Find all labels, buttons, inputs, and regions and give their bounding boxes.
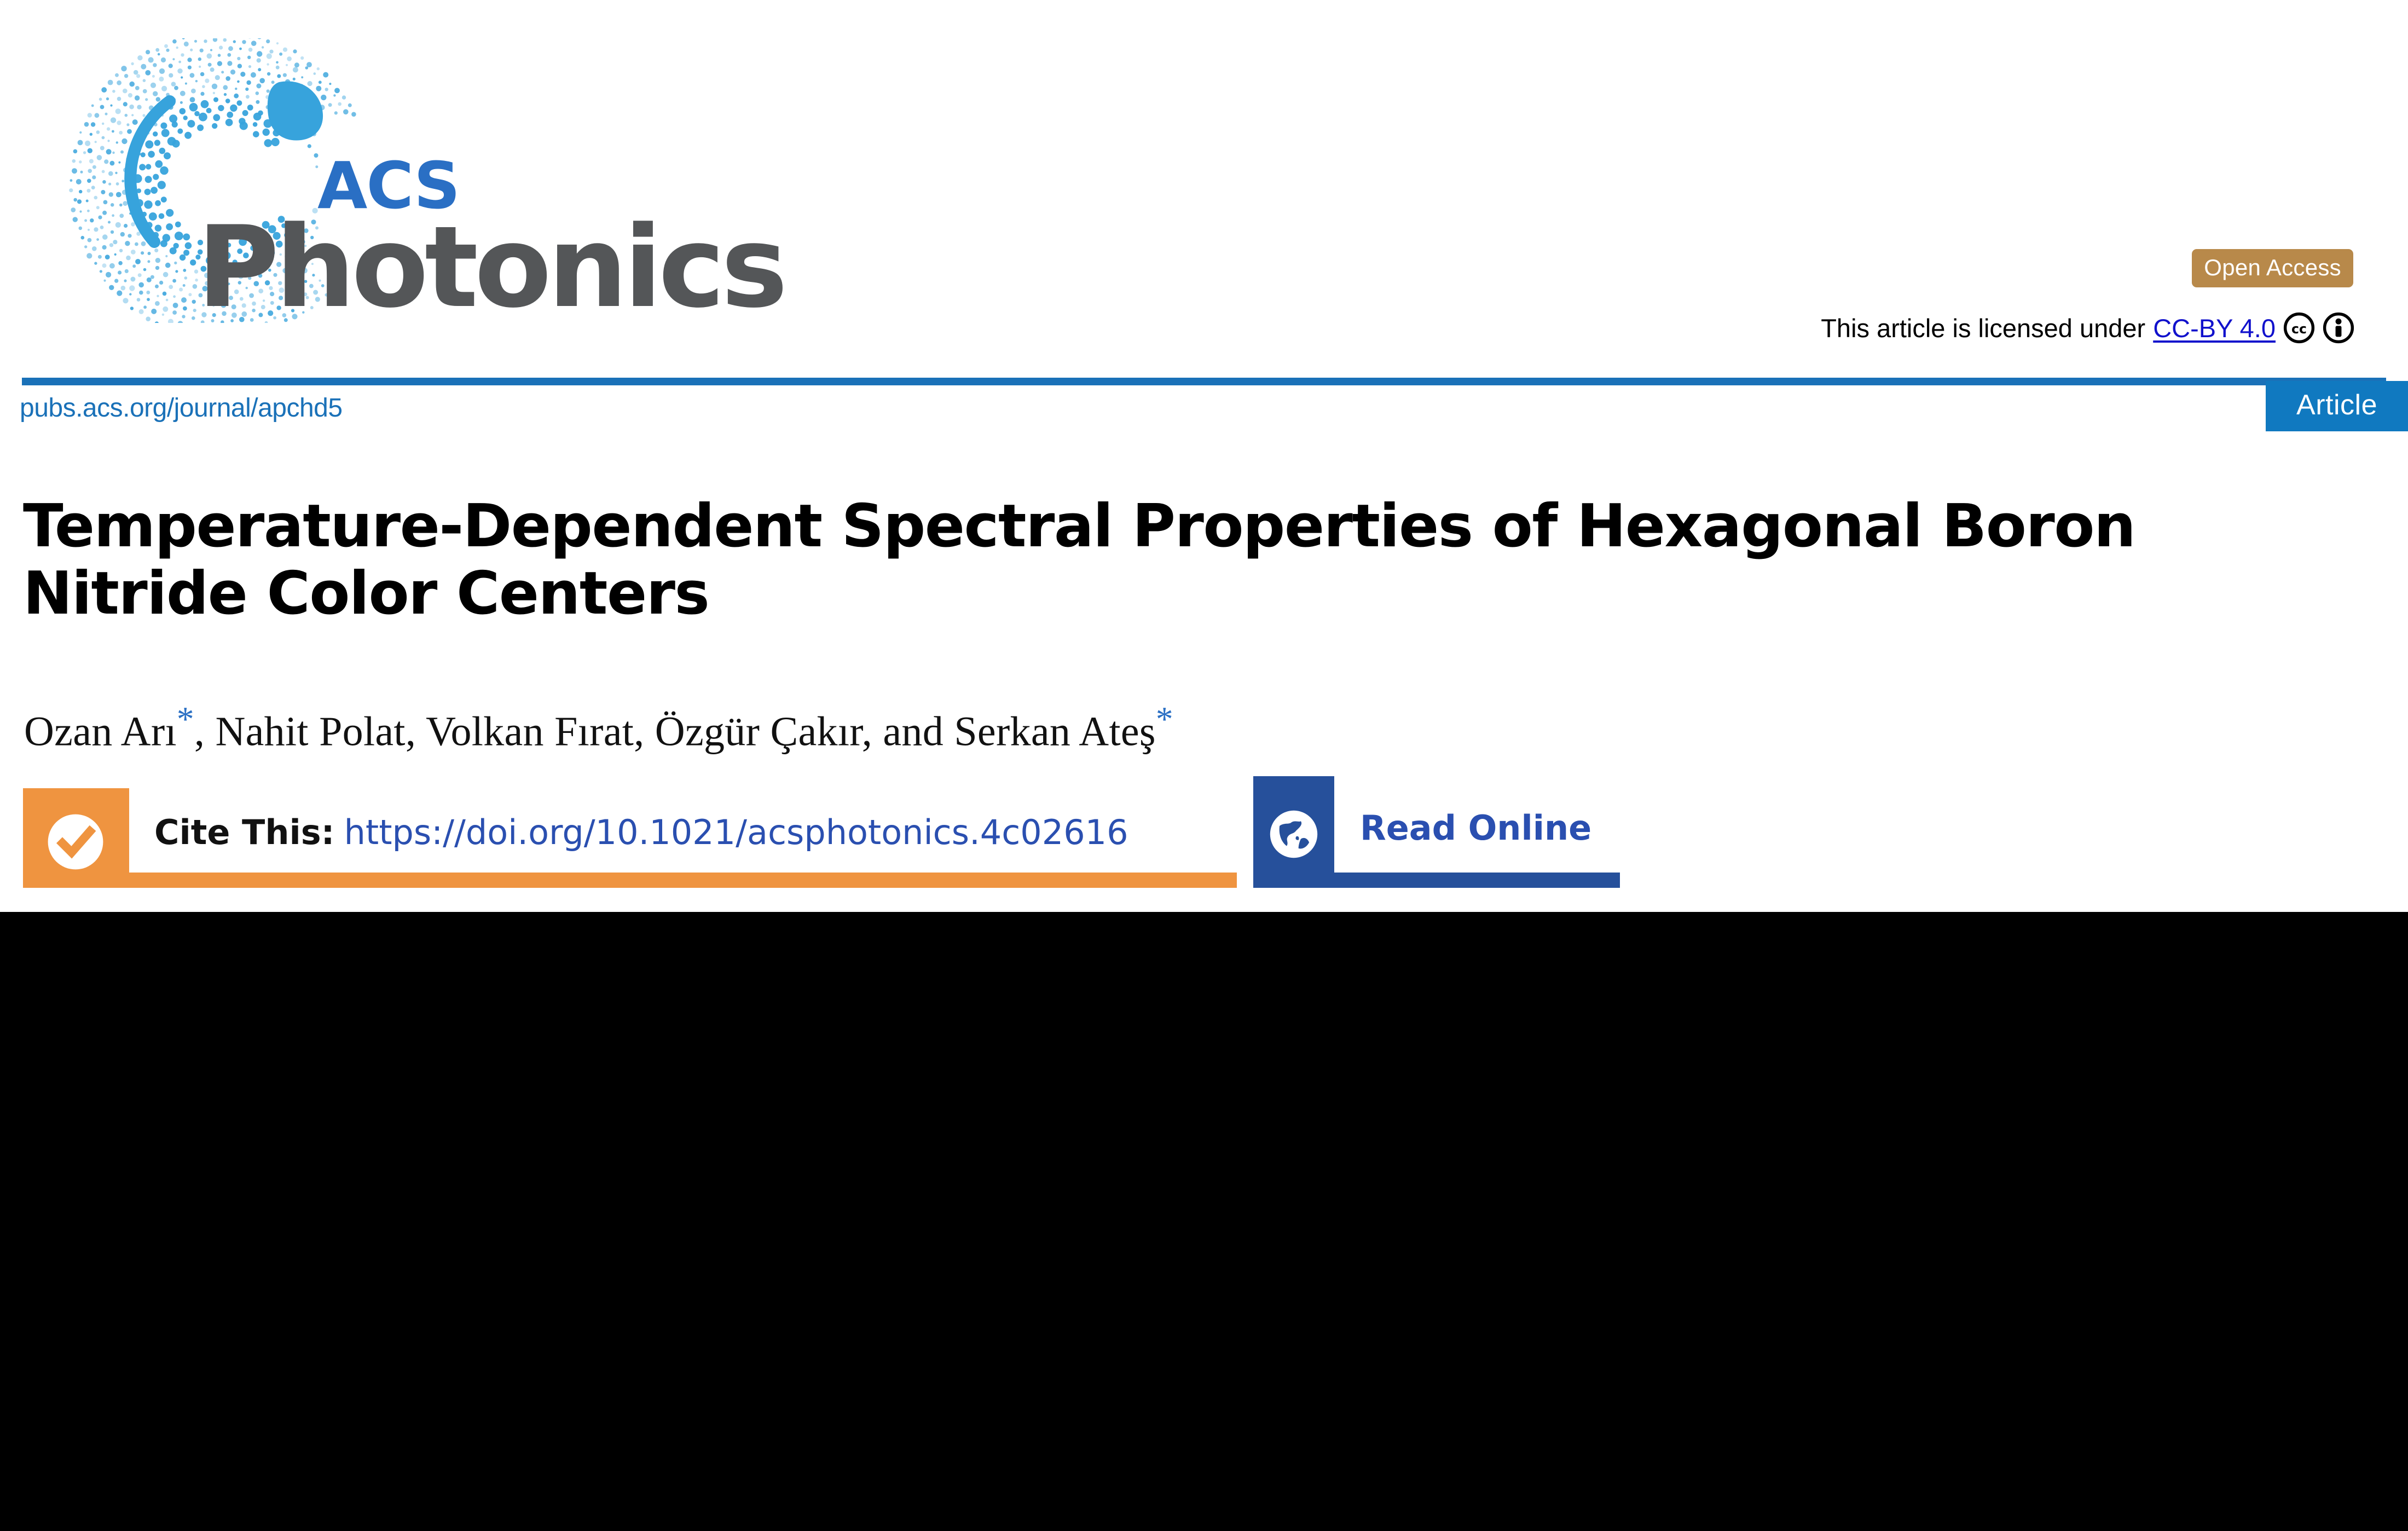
globe-icon <box>1264 805 1323 864</box>
cc-by-person-icon <box>2323 312 2354 344</box>
author-name: Ozan Arı <box>24 708 177 754</box>
journal-url[interactable]: pubs.acs.org/journal/apchd5 <box>20 393 343 423</box>
author-list: Ozan Arı*, Nahit Polat, Volkan Fırat, Öz… <box>24 700 2323 755</box>
article-first-page: ACS Photonics Open Access This article i… <box>0 0 2408 1531</box>
cite-this-label: Cite This: <box>154 812 334 852</box>
read-online-accent-bottom <box>1334 873 1620 888</box>
article-type-tab: Article <box>2266 381 2408 431</box>
svg-text:cc: cc <box>2291 321 2307 337</box>
corresponding-author-marker: * <box>1156 700 1173 738</box>
author-name: Nahit Polat <box>215 708 405 754</box>
author-name: Volkan Fırat <box>426 708 634 754</box>
article-title: Temperature-Dependent Spectral Propertie… <box>23 493 2360 627</box>
journal-logo: ACS Photonics <box>60 38 772 323</box>
license-statement: This article is licensed under CC-BY 4.0… <box>1821 312 2354 344</box>
cite-text-row: Cite This: https://doi.org/10.1021/acsph… <box>154 812 1128 852</box>
cite-accent-bottom <box>129 873 1237 888</box>
author-name: Özgür Çakır <box>655 708 862 754</box>
license-link[interactable]: CC-BY 4.0 <box>2153 313 2276 343</box>
logo-journal-name: Photonics <box>197 203 784 333</box>
open-access-badge: Open Access <box>2192 249 2353 287</box>
cite-doi-link[interactable]: https://doi.org/10.1021/acsphotonics.4c0… <box>344 812 1128 852</box>
license-prefix-text: This article is licensed under <box>1821 313 2145 343</box>
cite-this-bar: Cite This: https://doi.org/10.1021/acsph… <box>23 788 1237 888</box>
read-online-button[interactable]: Read Online <box>1253 776 1620 888</box>
creative-commons-icon: cc <box>2283 312 2315 344</box>
read-online-label: Read Online <box>1360 808 1591 848</box>
figure-banner-background: 5 μm 2.1852.192.1952.22.205(eV) <box>0 912 2408 1531</box>
author-name: Serkan Ateş <box>954 708 1155 754</box>
check-circle-icon <box>43 809 108 875</box>
corresponding-author-marker: * <box>177 700 194 738</box>
header-divider <box>22 378 2386 385</box>
